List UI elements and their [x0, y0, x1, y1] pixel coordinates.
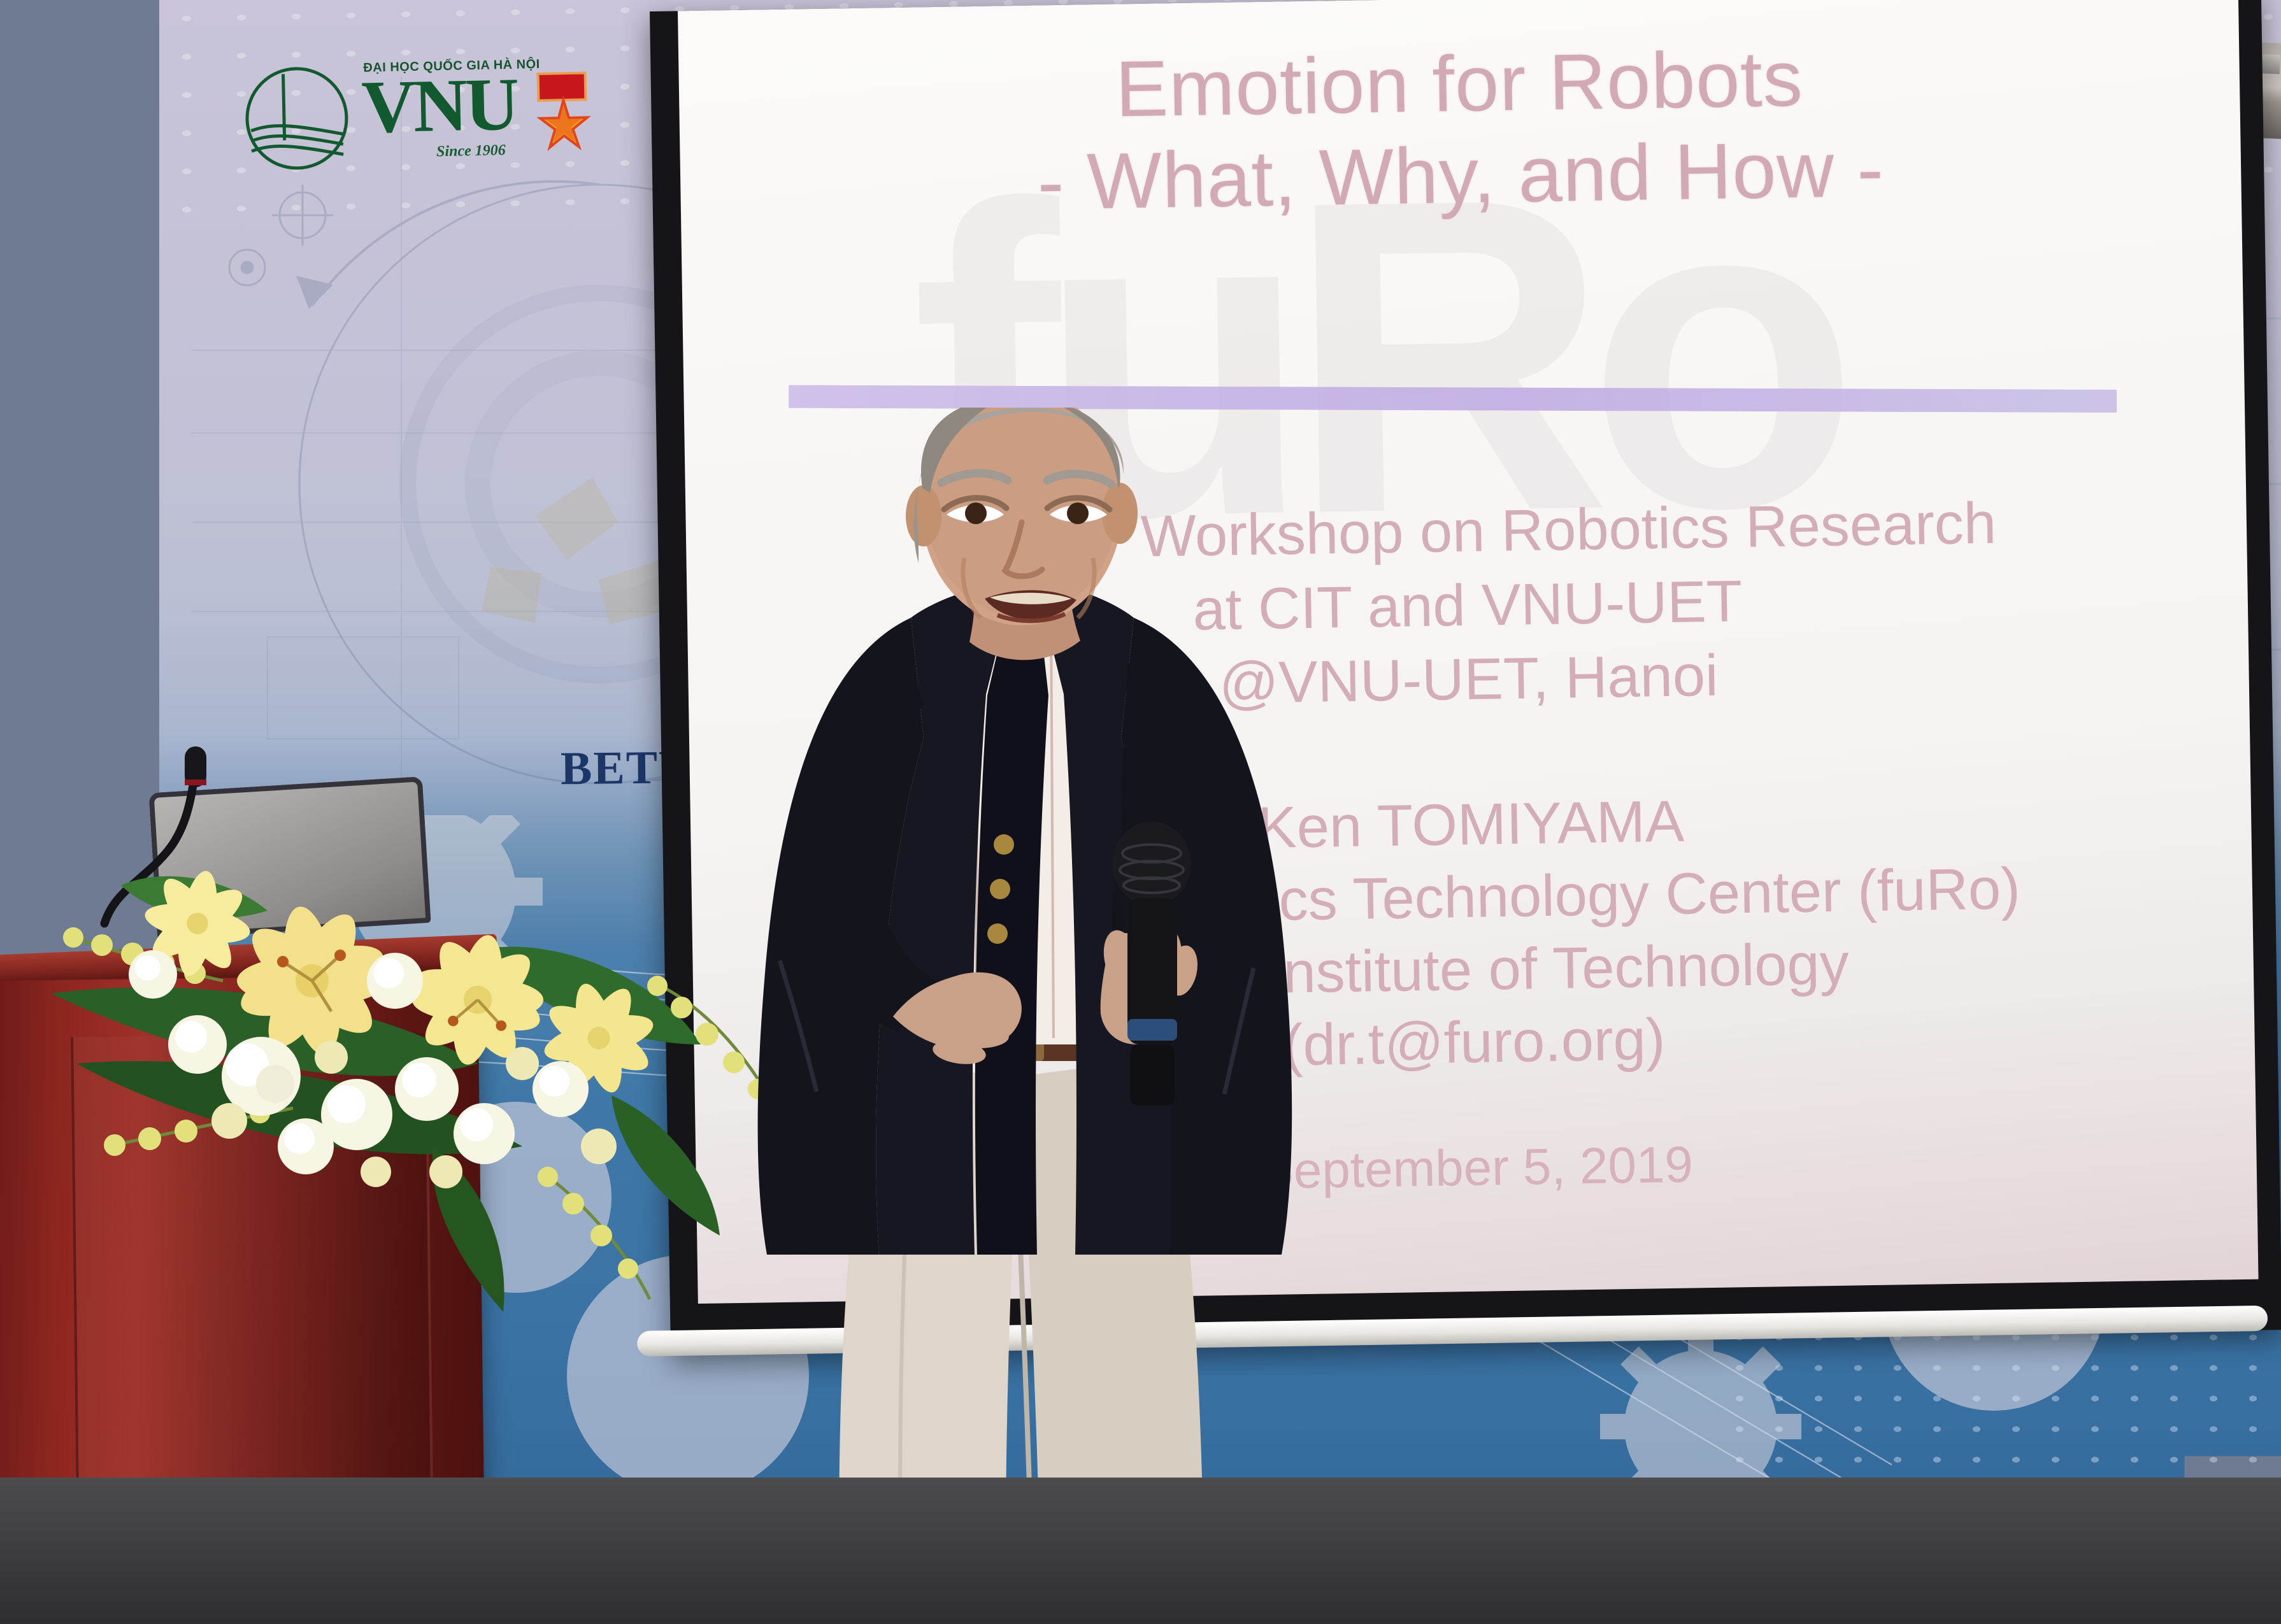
vnu-seal-icon [242, 62, 351, 171]
vnu-since: Since 1906 [436, 142, 506, 160]
vnu-medal-star-icon [528, 70, 600, 154]
vnu-logo: ĐẠI HỌC QUỐC GIA HÀ NỘI VNU Since 1906 Đ… [242, 46, 589, 190]
vnu-acronym: VNU [361, 67, 517, 145]
speaker-person [720, 408, 1306, 1624]
slide-title: Emotion for Robots - What, Why, and How … [678, 26, 2242, 234]
floor [0, 1478, 2281, 1624]
speaker-head [906, 408, 1138, 625]
presentation-photo-scene: BETW Y (CIT Hanoi, 2019 ĐẠI HỌC QUỐC GIA… [0, 0, 2281, 1624]
flower-arrangement [38, 790, 790, 1350]
